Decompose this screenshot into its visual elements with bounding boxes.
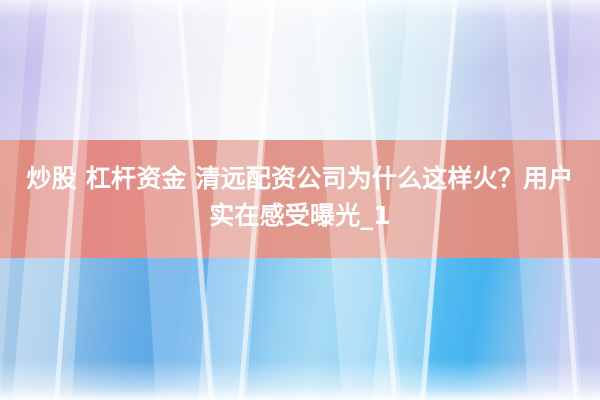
top-edge-glow bbox=[0, 0, 600, 18]
banner-image: 炒股 杠杆资金 清远配资公司为什么这样火？用户实在感受曝光_1 bbox=[0, 0, 600, 400]
banner-title-block: 炒股 杠杆资金 清远配资公司为什么这样火？用户实在感受曝光_1 bbox=[0, 160, 600, 234]
bottom-edge-glow bbox=[0, 360, 600, 400]
banner-title: 炒股 杠杆资金 清远配资公司为什么这样火？用户实在感受曝光_1 bbox=[18, 160, 582, 234]
background-top-band bbox=[0, 0, 600, 142]
